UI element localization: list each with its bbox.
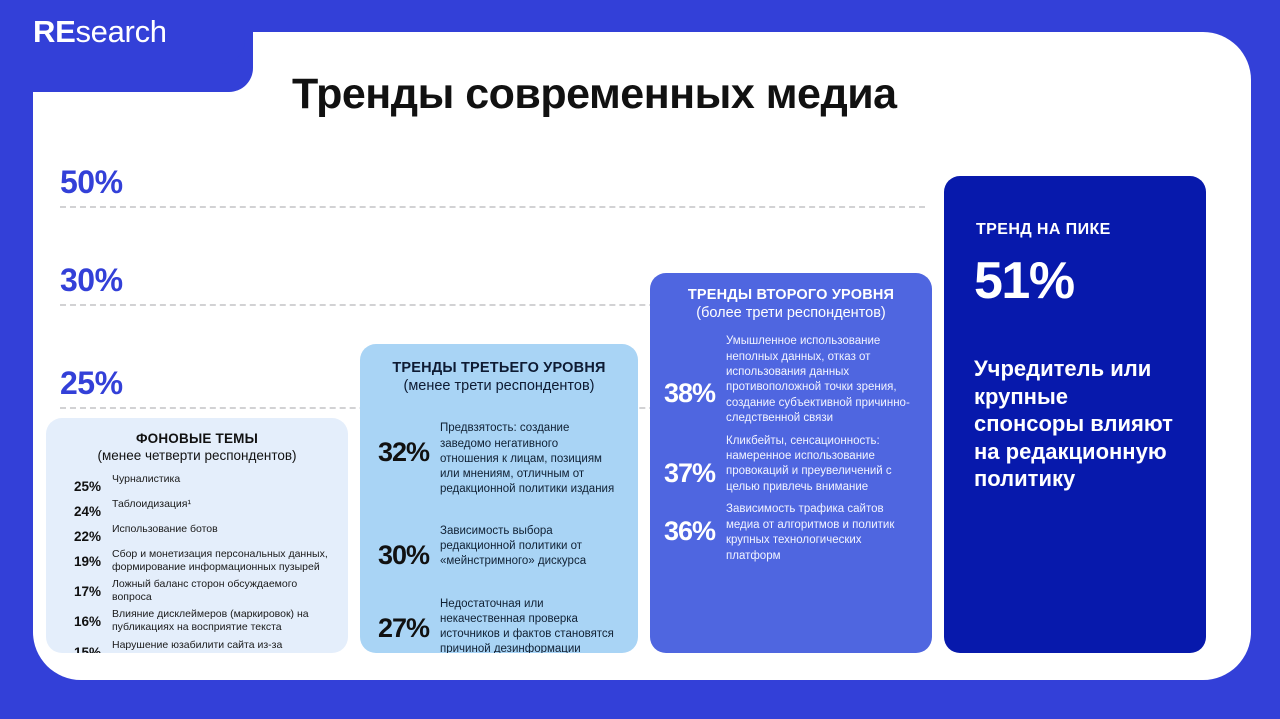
row-label: Недостаточная или некачественная проверк… <box>440 597 620 653</box>
card-third-level-title: ТРЕНДЫ ТРЕТЬЕГО УРОВНЯ <box>360 360 638 377</box>
list-item: 30% Зависимость выбора редакционной поли… <box>378 524 620 571</box>
row-percent: 25% <box>74 473 106 494</box>
row-label: Сбор и монетизация персональных данных, … <box>106 548 332 574</box>
row-label: Чурналистика <box>106 473 332 486</box>
card-background-themes-header: ФОНОВЫЕ ТЕМЫ (менее четверти респонденто… <box>46 431 348 464</box>
row-percent: 15% <box>74 639 106 653</box>
row-percent: 27% <box>378 597 440 644</box>
axis-label-30: 30% <box>60 262 123 299</box>
axis-label-25: 25% <box>60 365 123 402</box>
card-background-themes-rows: 25% Чурналистика 24% Таблоидизация¹ 22% … <box>74 473 332 653</box>
row-label: Кликбейты, сенсационность: намеренное ис… <box>726 434 918 496</box>
row-label: Нарушение юзабилити сайта из-за рекламны… <box>106 639 332 653</box>
card-background-themes-subtitle: (менее четверти респондентов) <box>46 448 348 464</box>
list-item: 32% Предвзятость: создание заведомо нега… <box>378 421 620 497</box>
row-label: Влияние дисклеймеров (маркировок) на пуб… <box>106 608 332 634</box>
infographic-slide: REsearch Тренды современных медиа 50% 30… <box>0 0 1280 719</box>
list-item: 19% Сбор и монетизация персональных данн… <box>74 548 332 574</box>
page-title: Тренды современных медиа <box>292 70 897 119</box>
card-background-themes: ФОНОВЫЕ ТЕМЫ (менее четверти респонденто… <box>46 418 348 653</box>
row-label: Зависимость трафика сайтов медиа от алго… <box>726 502 918 564</box>
card-third-level-header: ТРЕНДЫ ТРЕТЬЕГО УРОВНЯ (менее трети респ… <box>360 360 638 395</box>
card-peak-description: Учредитель или крупные спонсоры влияют н… <box>974 355 1178 493</box>
list-item: 27% Недостаточная или некачественная про… <box>378 597 620 653</box>
list-item: 38% Умышленное использование неполных да… <box>664 334 918 426</box>
brand-logo-strong: RE <box>33 14 75 49</box>
brand-logo-light: search <box>75 14 166 49</box>
row-percent: 32% <box>378 421 440 468</box>
card-third-level-rows: 32% Предвзятость: создание заведомо нега… <box>378 421 620 653</box>
card-background-themes-title: ФОНОВЫЕ ТЕМЫ <box>46 431 348 447</box>
row-percent: 24% <box>74 498 106 519</box>
card-peak-trend: ТРЕНД НА ПИКЕ 51% Учредитель или крупные… <box>944 176 1206 653</box>
list-item: 25% Чурналистика <box>74 473 332 494</box>
card-second-level-title: ТРЕНДЫ ВТОРОГО УРОВНЯ <box>650 287 932 304</box>
row-label: Умышленное использование неполных данных… <box>726 334 918 426</box>
row-label: Зависимость выбора редакционной политики… <box>440 524 620 570</box>
row-label: Таблоидизация¹ <box>106 498 332 511</box>
row-label: Предвзятость: создание заведомо негативн… <box>440 421 620 497</box>
card-second-level-trends: ТРЕНДЫ ВТОРОГО УРОВНЯ (более трети респо… <box>650 273 932 653</box>
card-second-level-rows: 38% Умышленное использование неполных да… <box>664 334 918 564</box>
row-percent: 22% <box>74 523 106 544</box>
axis-label-50: 50% <box>60 164 123 201</box>
row-label: Ложный баланс сторон обсуждаемого вопрос… <box>106 578 332 604</box>
list-item: 15% Нарушение юзабилити сайта из-за рекл… <box>74 639 332 653</box>
card-peak-value: 51% <box>974 255 1206 307</box>
list-item: 22% Использование ботов <box>74 523 332 544</box>
row-percent: 19% <box>74 548 106 569</box>
brand-logo-text: REsearch <box>33 14 167 50</box>
row-percent: 37% <box>664 434 726 489</box>
list-item: 17% Ложный баланс сторон обсуждаемого во… <box>74 578 332 604</box>
card-third-level-trends: ТРЕНДЫ ТРЕТЬЕГО УРОВНЯ (менее трети респ… <box>360 344 638 653</box>
list-item: 24% Таблоидизация¹ <box>74 498 332 519</box>
list-item: 16% Влияние дисклеймеров (маркировок) на… <box>74 608 332 634</box>
card-peak-kicker: ТРЕНД НА ПИКЕ <box>976 221 1206 239</box>
brand-logo-tab: REsearch <box>0 0 245 64</box>
row-percent: 17% <box>74 578 106 599</box>
row-percent: 16% <box>74 608 106 629</box>
row-percent: 36% <box>664 502 726 547</box>
row-percent: 30% <box>378 524 440 571</box>
list-item: 36% Зависимость трафика сайтов медиа от … <box>664 502 918 564</box>
row-percent: 38% <box>664 334 726 409</box>
list-item: 37% Кликбейты, сенсационность: намеренно… <box>664 434 918 496</box>
card-second-level-subtitle: (более трети респондентов) <box>650 305 932 322</box>
row-label: Использование ботов <box>106 523 332 536</box>
card-third-level-subtitle: (менее трети респондентов) <box>360 378 638 395</box>
gridline-50 <box>60 206 925 208</box>
card-second-level-header: ТРЕНДЫ ВТОРОГО УРОВНЯ (более трети респо… <box>650 287 932 322</box>
